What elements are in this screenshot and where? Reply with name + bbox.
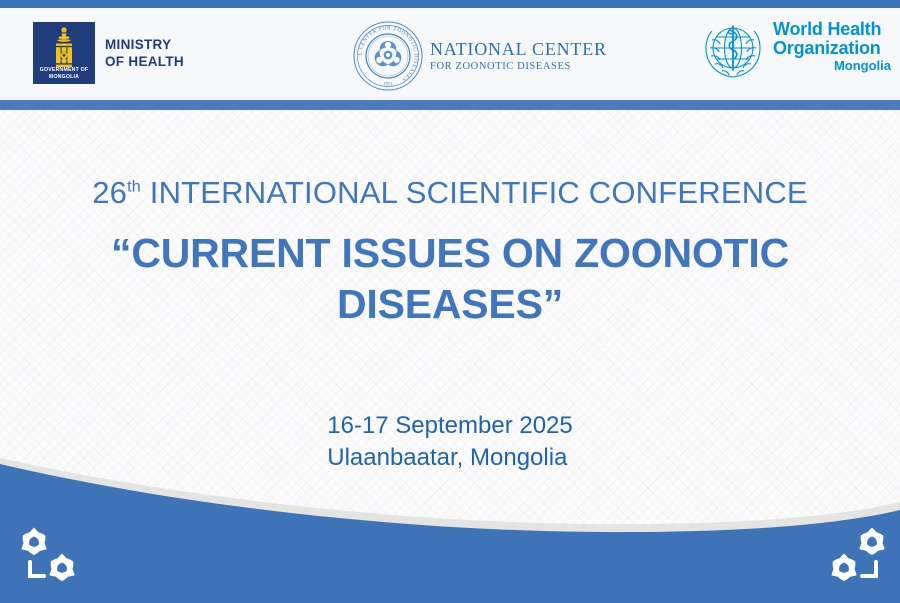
triquetra-knot-lower (830, 556, 858, 580)
national-center-zoonotic-diseases-logo: NATIONAL CENTER FOR ZOONOTIC DISEASES (352, 20, 607, 92)
corner-bracket (862, 562, 876, 576)
emblem-caption-line-2: MONGOLIA (49, 74, 79, 80)
mongolian-ulzii-knot-ornament-left (14, 522, 86, 592)
emblem-caption-line-1: GOVERNMENT OF (40, 67, 88, 73)
national-center-name: NATIONAL CENTER FOR ZOONOTIC DISEASES (430, 40, 607, 72)
presentation-slide: 26th INTERNATIONAL SCIENTIFIC CONFERENCE… (0, 0, 900, 603)
bottom-wave-decoration (0, 440, 900, 603)
who-logo: World Health Organization Mongolia (700, 20, 891, 82)
who-name-line-2: Organization (773, 39, 891, 58)
triquetra-knot-upper (858, 530, 886, 554)
triquetra-knot-upper (20, 530, 48, 554)
conference-theme-title: “CURRENT ISSUES ON ZOONOTIC DISEASES” (60, 228, 840, 330)
mongolian-ulzii-knot-ornament-right (820, 522, 892, 592)
seal-year: 1951 (383, 83, 394, 88)
header-divider-bar (0, 100, 900, 110)
conference-ordinal-suffix: th (127, 178, 141, 196)
conference-number: 26 (92, 175, 127, 210)
zoonotic-seal-icon: NATIONAL CENTER FOR ZOONOTIC DISEASES (352, 20, 424, 92)
conference-heading: 26th INTERNATIONAL SCIENTIFIC CONFERENCE (0, 175, 900, 211)
ministry-name-line-1: MINISTRY (105, 37, 171, 52)
who-name-block: World Health Organization Mongolia (773, 20, 891, 73)
national-center-name-line-2: FOR ZOONOTIC DISEASES (430, 61, 607, 72)
triquetra-knot-lower (48, 556, 76, 580)
corner-bracket (30, 562, 44, 576)
conference-label: INTERNATIONAL SCIENTIFIC CONFERENCE (141, 175, 808, 210)
theme-line-2: DISEASES” (337, 281, 563, 327)
top-accent-bar (0, 0, 900, 8)
who-emblem-icon (700, 20, 766, 82)
emblem-caption: GOVERNMENT OF MONGOLIA (33, 67, 95, 80)
who-name-line-1: World Health (773, 20, 891, 39)
ministry-of-health-logo: GOVERNMENT OF MONGOLIA MINISTRY OF HEALT… (33, 22, 184, 84)
ministry-name-line-2: OF HEALTH (105, 54, 184, 69)
soyombo-emblem: GOVERNMENT OF MONGOLIA (33, 22, 95, 84)
who-country-label: Mongolia (773, 58, 891, 73)
ministry-name: MINISTRY OF HEALTH (105, 36, 184, 70)
event-date: 16-17 September 2025 (327, 410, 573, 442)
theme-line-1: “CURRENT ISSUES ON ZOONOTIC (111, 230, 789, 276)
biohazard-symbol (372, 41, 405, 69)
national-center-name-line-1: NATIONAL CENTER (430, 40, 607, 59)
